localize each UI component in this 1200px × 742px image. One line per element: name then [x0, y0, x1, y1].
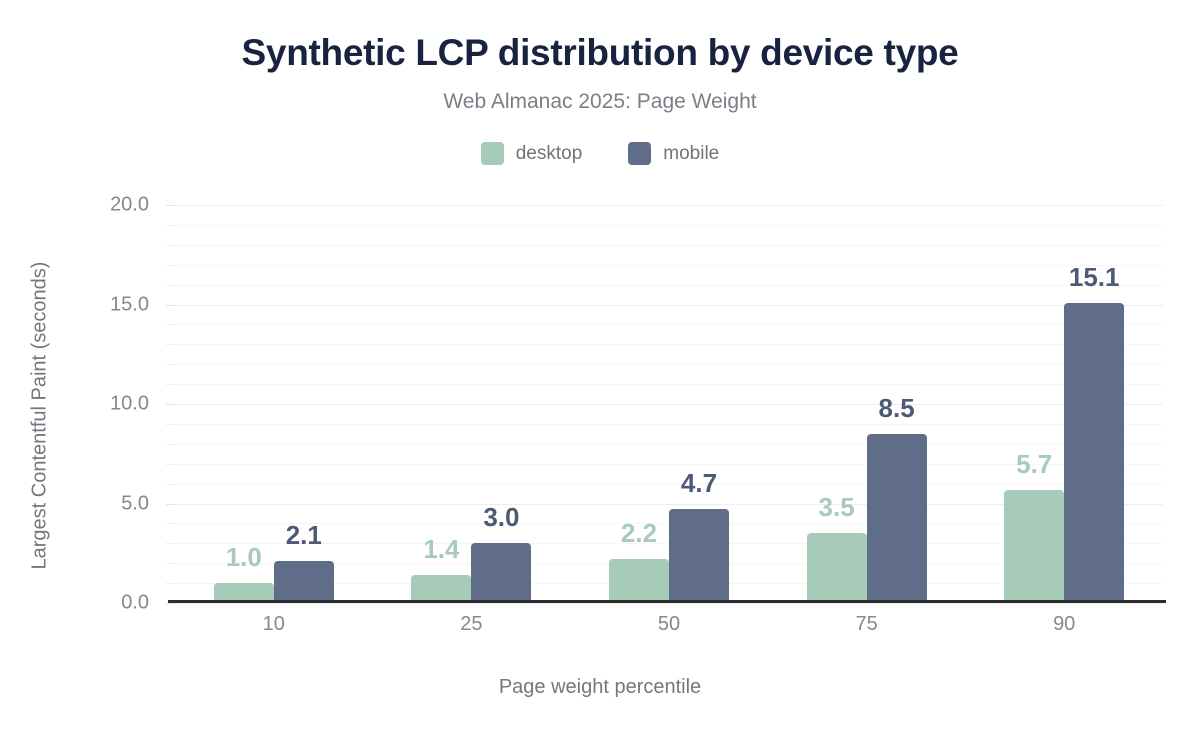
y-tick-label-20.0: 20.0: [110, 194, 149, 217]
bar-value-label-desktop-25: 1.4: [423, 534, 459, 565]
legend-label-desktop: desktop: [516, 143, 583, 165]
chart-container: Synthetic LCP distribution by device typ…: [0, 0, 1200, 742]
bar-value-label-mobile-25: 3.0: [483, 502, 519, 533]
x-axis-tick-labels: 1025507590: [175, 613, 1163, 647]
bar-mobile-75[interactable]: [867, 434, 927, 603]
bar-mobile-90[interactable]: [1064, 303, 1124, 603]
x-axis-title: Page weight percentile: [0, 676, 1200, 699]
y-tick-label-0.0: 0.0: [121, 592, 149, 615]
y-tickmark: [166, 464, 175, 465]
x-tick-label-50: 50: [658, 613, 680, 636]
x-tick-label-10: 10: [263, 613, 285, 636]
y-tickmark: [166, 245, 175, 246]
legend-label-mobile: mobile: [663, 143, 719, 165]
bar-value-label-mobile-50: 4.7: [681, 468, 717, 499]
legend-item-desktop[interactable]: desktop: [481, 142, 583, 165]
y-tick-label-5.0: 5.0: [121, 492, 149, 515]
y-tickmark: [166, 484, 175, 485]
x-tick-label-75: 75: [855, 613, 877, 636]
y-tickmark: [166, 324, 175, 325]
bar-value-label-desktop-90: 5.7: [1016, 449, 1052, 480]
bar-mobile-25[interactable]: [471, 543, 531, 603]
bar-value-label-mobile-10: 2.1: [286, 520, 322, 551]
y-tickmark: [166, 543, 175, 544]
x-tick-label-25: 25: [460, 613, 482, 636]
y-tickmark: [166, 404, 175, 405]
y-tickmark: [166, 384, 175, 385]
bar-value-label-desktop-75: 3.5: [819, 492, 855, 523]
y-tickmark: [166, 583, 175, 584]
bar-value-label-desktop-10: 1.0: [226, 542, 262, 573]
bar-value-label-mobile-90: 15.1: [1069, 262, 1120, 293]
y-tickmark: [166, 344, 175, 345]
y-tickmark: [166, 205, 175, 206]
y-axis-title: Largest Contentful Paint (seconds): [29, 216, 52, 616]
chart-title: Synthetic LCP distribution by device typ…: [0, 32, 1200, 74]
chart-subtitle: Web Almanac 2025: Page Weight: [0, 90, 1200, 114]
legend-swatch-mobile: [628, 142, 651, 165]
x-tick-label-90: 90: [1053, 613, 1075, 636]
bar-desktop-90[interactable]: [1004, 490, 1064, 603]
y-tickmark: [166, 265, 175, 266]
y-tickmark: [166, 285, 175, 286]
y-tickmark: [166, 444, 175, 445]
bar-mobile-10[interactable]: [274, 561, 334, 603]
bar-value-label-desktop-50: 2.2: [621, 518, 657, 549]
x-axis-baseline: [168, 600, 1166, 603]
plot-area: 1.02.11.43.02.24.73.58.55.715.1: [175, 205, 1163, 603]
y-tickmark: [166, 523, 175, 524]
gridline: [175, 603, 1163, 604]
y-tick-label-10.0: 10.0: [110, 393, 149, 416]
y-tickmark: [166, 225, 175, 226]
bar-desktop-50[interactable]: [609, 559, 669, 603]
y-axis-tick-labels: 0.05.010.015.020.0: [0, 205, 163, 603]
y-tickmark: [166, 563, 175, 564]
y-tickmark: [166, 305, 175, 306]
y-tickmark: [166, 364, 175, 365]
chart-legend: desktopmobile: [0, 142, 1200, 165]
y-tickmark: [166, 424, 175, 425]
bar-value-label-mobile-75: 8.5: [879, 393, 915, 424]
y-tickmark: [166, 504, 175, 505]
legend-swatch-desktop: [481, 142, 504, 165]
bar-desktop-25[interactable]: [411, 575, 471, 603]
bars-layer: 1.02.11.43.02.24.73.58.55.715.1: [175, 205, 1163, 603]
y-tick-label-15.0: 15.0: [110, 293, 149, 316]
y-tickmark: [166, 603, 175, 604]
bar-mobile-50[interactable]: [669, 509, 729, 603]
bar-desktop-75[interactable]: [807, 533, 867, 603]
legend-item-mobile[interactable]: mobile: [628, 142, 719, 165]
